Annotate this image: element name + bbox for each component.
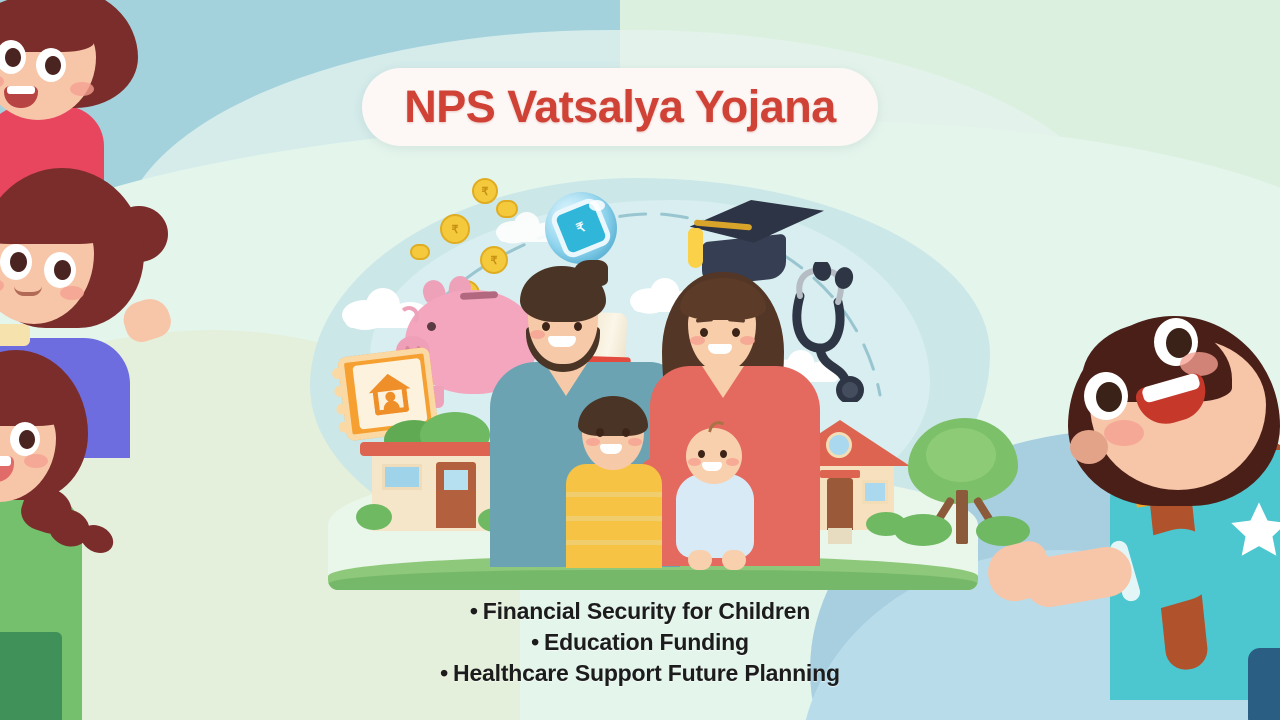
benefit-label: Healthcare Support Future Planning [453,660,840,686]
house-left-icon [360,442,510,538]
benefit-label: Financial Security for Children [483,598,810,624]
page-title: NPS Vatsalya Yojana [404,81,836,133]
coin-icon [410,244,430,260]
bullet-marker-icon: • [531,629,539,655]
coin-icon: ₹ [440,214,470,244]
poster-canvas: NPS Vatsalya Yojana ₹ ₹ ₹ ₹ [0,0,1280,720]
star-icon [1226,498,1280,564]
kid-teeth [0,456,11,466]
bullet-marker-icon: • [440,660,448,686]
coin-icon [496,200,518,218]
kid-ear [1070,430,1108,464]
kid-teeth [7,86,35,94]
kid-pants [1248,648,1280,720]
coin-icon: ₹ [472,178,498,204]
kid-pants [0,632,62,720]
character-kid-right [980,330,1280,720]
savings-card-icon: ₹ [545,192,617,264]
benefit-label: Education Funding [544,629,749,655]
bullet-marker-icon: • [470,598,478,624]
family-illustration [490,266,820,566]
character-kid-bottom-left [0,340,182,720]
title-pill: NPS Vatsalya Yojana [362,68,878,146]
central-illustration: ₹ ₹ ₹ ₹ ₹ [300,170,1000,590]
